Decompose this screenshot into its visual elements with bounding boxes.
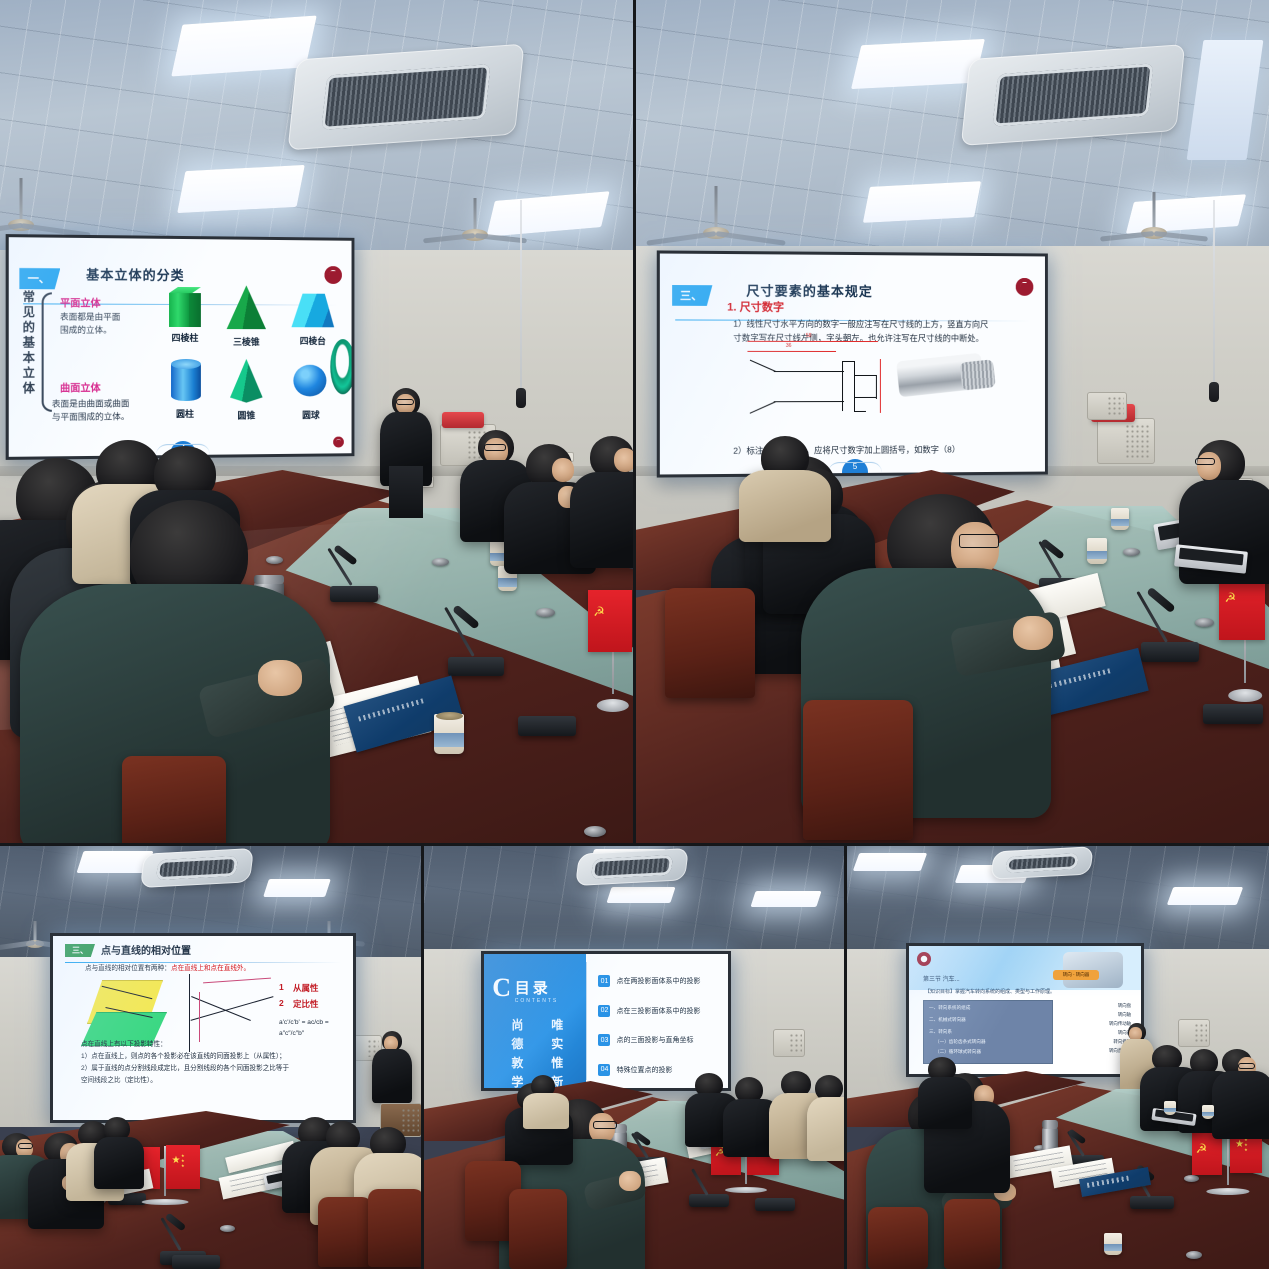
presenter-shadow — [1039, 372, 1099, 522]
chair — [368, 1189, 423, 1267]
point-item-1: 1 — [279, 982, 284, 992]
chair — [318, 1197, 372, 1267]
prc-national-flag: ★ ★★★ — [166, 1145, 200, 1189]
ceiling-fan — [472, 198, 478, 236]
right-column-5: 转向直拉杆 — [1051, 1047, 1131, 1055]
chair — [665, 588, 755, 698]
paper-cup — [1164, 1101, 1176, 1115]
slide-paragraph-1: 1）线性尺寸水平方向的数字一般应注写在尺寸线的上方，竖直方向尺 — [733, 317, 988, 332]
projection-screen: 三、 尺寸要素的基本规定 1. 尺寸数字 1）线性尺寸水平方向的数字一般应注写在… — [657, 250, 1048, 477]
slide-callout: 转向 - 转向器 — [1053, 970, 1099, 980]
slide-title: 尺寸要素的基本规定 — [746, 281, 873, 301]
3d-shaft-thread — [960, 359, 996, 390]
attendee — [918, 1057, 970, 1119]
slide-lead-highlight: 点在直线上和点在直线外。 — [171, 964, 250, 975]
solid-label-0: 四棱柱 — [172, 331, 199, 344]
ceiling-light — [263, 879, 331, 897]
solid-label-1: 三棱锥 — [233, 335, 260, 348]
paper-cup — [1104, 1233, 1122, 1255]
toc-divider — [586, 962, 587, 1080]
slide-header-title: 第三节 汽车... — [923, 974, 960, 983]
ceiling-fan — [1151, 192, 1157, 234]
motto-char-4: 敦 — [500, 1054, 534, 1071]
toc-title: 目录 — [515, 977, 551, 998]
conference-microphone — [518, 672, 576, 736]
box-line-3: （一）齿轮齿条式转向器 — [935, 1038, 1051, 1046]
solid-pyramid — [227, 285, 266, 329]
slide-left-label: 常见的基本立体 — [17, 290, 35, 412]
chair — [509, 1189, 567, 1269]
motto-char-3: 实 — [540, 1035, 574, 1052]
collage-seam-vertical-bottom-2 — [844, 845, 847, 1269]
hanging-microphone — [520, 200, 522, 392]
presenter — [376, 388, 436, 518]
attendee — [94, 1117, 142, 1179]
motto-char-5: 惟 — [540, 1054, 574, 1071]
ceiling-fan — [32, 921, 37, 943]
toc-item-4[interactable]: 04 特殊位置点的投影 — [598, 1064, 672, 1076]
ceiling-light — [750, 891, 821, 907]
point-item-1-text: 从属性 — [293, 982, 319, 994]
slide-automotive-course: 第三节 汽车... 转向 - 转向器 【知识目标】掌握汽车转向系统的组成、类型与… — [909, 946, 1141, 1074]
solid-label-3: 圆柱 — [176, 407, 194, 420]
paper-cup — [434, 714, 464, 754]
dimension-label-1: 36 — [786, 343, 792, 349]
wall-air-vent — [1097, 418, 1155, 464]
desk-flag-stand — [1217, 568, 1269, 702]
ratio-formula: a'c'/c'b' = ac/cb = a″c″/c″b″ — [279, 1018, 355, 1039]
toc-item-2-label: 点在三投影面体系中的投影 — [616, 1006, 700, 1016]
collage-row-bottom: 三、 点与直线的相对位置 点与直线的相对位置有两种： 点在直线上和点在直线外。 … — [0, 845, 1269, 1269]
toc-item-2[interactable]: 02 点在三投影面体系中的投影 — [598, 1005, 700, 1017]
slide-dimension-rules: 三、 尺寸要素的基本规定 1. 尺寸数字 1）线性尺寸水平方向的数字一般应注写在… — [660, 254, 1045, 475]
slide-section-tab: 一、 — [19, 268, 60, 290]
slide-section-tab: 三、 — [672, 285, 713, 306]
solid-cone — [229, 359, 264, 403]
toc-item-3-label: 点的三面投影与直角坐标 — [616, 1035, 693, 1045]
group-body-curved-line2: 与平面围成的立体。 — [52, 410, 130, 423]
solid-sphere — [293, 365, 326, 397]
solid-torus — [330, 339, 354, 394]
panel-bottom-right: 第三节 汽车... 转向 - 转向器 【知识目标】掌握汽车转向系统的组成、类型与… — [846, 845, 1269, 1269]
flag-small-stars-icon: ★★★ — [1244, 1137, 1248, 1152]
box-line-4: （二）循环球式转向器 — [935, 1048, 1051, 1056]
body-line-2: 2）属于直线的点分割线段成定比，且分割线段的各个同面投影之比等于 — [81, 1064, 289, 1075]
footer-logo — [333, 437, 344, 448]
flag-star-icon: ★ — [1235, 1140, 1244, 1150]
university-seal-logo — [917, 952, 931, 966]
right-column-0: 转向盘 — [1051, 1002, 1131, 1010]
slide-section-tab: 三、 — [65, 944, 95, 957]
wall-panel — [1178, 1019, 1210, 1047]
curly-brace — [42, 292, 52, 412]
axis-line — [189, 974, 190, 1052]
toc-item-4-number: 04 — [598, 1064, 610, 1076]
air-conditioner-unit — [961, 44, 1186, 146]
projection-screen: C 目录 CONTENTS 尚 唯 德 实 敦 惟 学 新 — [481, 951, 731, 1091]
toc-item-4-label: 特殊位置点的投影 — [616, 1065, 672, 1075]
slide-lead-line: 【知识目标】掌握汽车转向系统的组成、类型与工作原理。 — [925, 988, 1055, 995]
group-body-planar-line1: 表面都是由平面 — [60, 311, 120, 324]
toc-item-1-label: 点在两投影面体系中的投影 — [616, 976, 700, 986]
body-line-3: 空间线段之比（定比性）。 — [81, 1076, 157, 1087]
solid-label-5: 圆球 — [302, 408, 320, 421]
chair — [122, 756, 226, 845]
solid-frustum — [291, 294, 334, 328]
ceiling-light — [863, 181, 981, 223]
panel-top-right: 三、 尺寸要素的基本规定 1. 尺寸数字 1）线性尺寸水平方向的数字一般应注写在… — [635, 0, 1269, 845]
box-line-2: 三、转向系 — [929, 1028, 1049, 1036]
toc-item-2-number: 02 — [598, 1005, 610, 1017]
conference-microphone — [1141, 588, 1199, 662]
ceiling-light — [1167, 887, 1244, 905]
flag-small-stars-icon: ★★★ — [181, 1153, 185, 1168]
air-conditioner-unit — [288, 44, 525, 151]
cable-grommet — [220, 1225, 235, 1232]
right-column-2: 转向传动轴 — [1051, 1020, 1131, 1028]
flag-star-icon: ★ — [171, 1156, 180, 1166]
motto-char-1: 唯 — [540, 1016, 574, 1033]
slide-table-of-contents: C 目录 CONTENTS 尚 唯 德 实 敦 惟 学 新 — [484, 954, 728, 1088]
pink-aux-line — [199, 992, 200, 1042]
projection-screen: 三、 点与直线的相对位置 点与直线的相对位置有两种： 点在直线上和点在直线外。 … — [50, 933, 356, 1123]
party-flag — [588, 590, 632, 652]
panel-top-left: 一、 基本立体的分类 常见的基本立体 平面立体 表面都是由平面 围成的立体。 曲… — [0, 0, 635, 845]
toc-item-3-number: 03 — [598, 1034, 610, 1046]
party-flag — [1219, 576, 1265, 640]
toc-item-1[interactable]: 01 点在两投影面体系中的投影 — [598, 975, 700, 987]
hanging-microphone — [1213, 200, 1215, 386]
conference-microphone — [172, 1245, 220, 1269]
toc-letter-c: C — [492, 973, 511, 1003]
cable-grommet — [536, 608, 555, 617]
technical-drawing: 58 36 — [747, 353, 877, 411]
slide-title: 点与直线的相对位置 — [101, 942, 191, 957]
red-equipment-case — [442, 412, 484, 428]
projection-screen: 一、 基本立体的分类 常见的基本立体 平面立体 表面都是由平面 围成的立体。 曲… — [6, 234, 355, 460]
slide-lead-line: 点与直线的相对位置有两种： — [85, 964, 171, 975]
chair — [944, 1199, 1000, 1269]
toc-pinyin: CONTENTS — [515, 998, 559, 1004]
slide-paragraph-2: 寸数字写在尺寸线左侧，字头朝左。也允许注写在尺寸线的中断处。 — [733, 331, 983, 346]
solid-label-2: 四棱台 — [300, 334, 326, 347]
paper-cup — [1087, 538, 1107, 564]
slide-subtitle: 1. 尺寸数字 — [727, 298, 784, 314]
air-conditioner-unit — [575, 848, 689, 886]
group-body-curved-line1: 表面是由曲面或曲面 — [52, 397, 130, 410]
cable-grommet — [1186, 1251, 1202, 1259]
pink-aux-line — [203, 978, 271, 984]
paper-cup — [1111, 508, 1129, 530]
right-column-1: 转向轴 — [1051, 1011, 1131, 1019]
dimension-label-0: 58 — [806, 333, 812, 339]
motto-char-2: 德 — [500, 1035, 534, 1052]
photo-collage: 一、 基本立体的分类 常见的基本立体 平面立体 表面都是由平面 围成的立体。 曲… — [0, 0, 1269, 1269]
ceiling-fan — [18, 178, 24, 226]
cable-grommet — [584, 826, 606, 837]
slide-basic-solids: 一、 基本立体的分类 常见的基本立体 平面立体 表面都是由平面 围成的立体。 曲… — [9, 237, 352, 457]
solid-rect-prism — [169, 287, 201, 327]
chair — [868, 1207, 928, 1269]
desk-flag-stand — [586, 582, 635, 712]
wall-panel — [773, 1029, 805, 1057]
right-column-3: 转向器 — [1051, 1029, 1131, 1037]
toc-item-3[interactable]: 03 点的三面投影与直角坐标 — [598, 1034, 693, 1046]
university-seal-logo — [1016, 278, 1034, 296]
solid-cylinder — [171, 359, 201, 401]
point-item-2-text: 定比性 — [293, 998, 319, 1010]
slide-title: 基本立体的分类 — [86, 264, 185, 284]
group-body-planar-line2: 围成的立体。 — [60, 324, 112, 337]
university-seal-logo — [324, 266, 341, 284]
ceiling-light — [606, 887, 675, 903]
cable-grommet — [432, 558, 449, 566]
collage-seam-vertical-top — [633, 0, 636, 845]
paper-cup — [1202, 1105, 1214, 1119]
body-line-0: 点在直线上有以下投影特性： — [81, 1040, 167, 1051]
attendee — [523, 1075, 567, 1119]
panel-bottom-left: 三、 点与直线的相对位置 点与直线的相对位置有两种： 点在直线上和点在直线外。 … — [0, 845, 423, 1269]
attendee — [1212, 1049, 1269, 1131]
toc-right-panel: 01 点在两投影面体系中的投影 02 点在三投影面体系中的投影 03 点的三面投… — [586, 954, 728, 1088]
group-heading-curved: 曲面立体 — [60, 379, 101, 394]
ceiling-light — [851, 39, 985, 89]
collage-seam-vertical-bottom-1 — [421, 845, 424, 1269]
ceiling-light — [177, 165, 305, 213]
panel-bottom-middle: C 目录 CONTENTS 尚 唯 德 实 敦 惟 学 新 — [423, 845, 846, 1269]
conference-microphone — [448, 604, 504, 676]
air-conditioner-unit — [990, 846, 1093, 879]
group-heading-planar: 平面立体 — [60, 294, 101, 309]
solid-label-4: 圆锥 — [237, 409, 255, 422]
box-line-0: 一、转向系统的组成 — [929, 1004, 1049, 1012]
attendee — [576, 436, 635, 556]
chair — [803, 700, 913, 840]
air-conditioner-unit — [140, 848, 254, 888]
toc-left-panel: C 目录 CONTENTS 尚 唯 德 实 敦 惟 学 新 — [484, 954, 586, 1088]
body-line-1: 1）点在直线上，则点的各个投影必在该直线的同面投影上（从属性）； — [81, 1052, 286, 1063]
cable-grommet — [1123, 548, 1140, 556]
motto-char-0: 尚 — [500, 1016, 534, 1033]
right-column-4: 转向摇臂 — [1051, 1038, 1131, 1046]
ceiling-light — [853, 853, 928, 871]
ceiling-light — [171, 15, 317, 76]
ceiling-fan — [713, 186, 719, 234]
slide-point-line-position: 三、 点与直线的相对位置 点与直线的相对位置有两种： 点在直线上和点在直线外。 … — [53, 936, 353, 1120]
attendee — [807, 1075, 846, 1151]
paper-cup-rim — [436, 712, 463, 720]
box-line-1: 二、机械式转向器 — [929, 1016, 1049, 1024]
toc-item-1-number: 01 — [598, 975, 610, 987]
point-item-2: 2 — [279, 998, 284, 1008]
